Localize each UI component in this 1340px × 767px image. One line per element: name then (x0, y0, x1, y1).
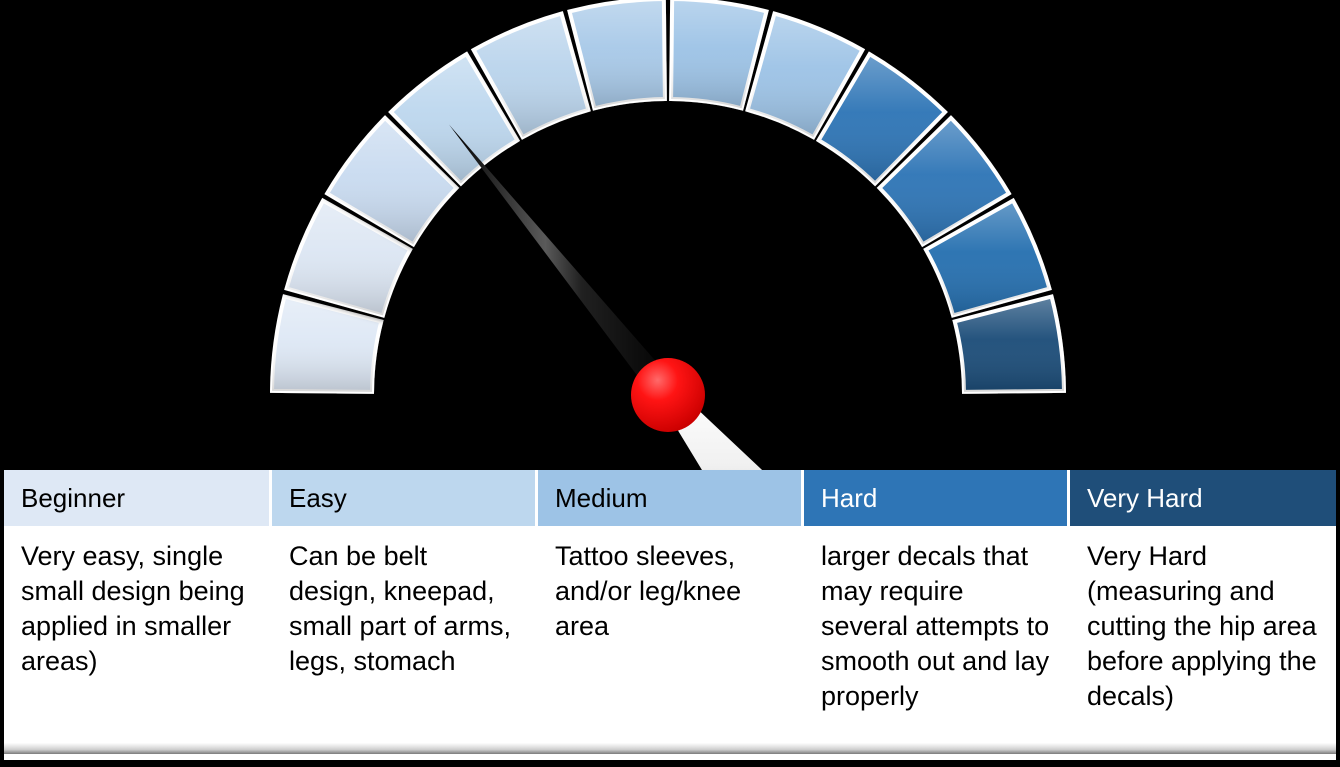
body-cell-hard: larger decals that may require several a… (804, 526, 1070, 732)
gauge-area (0, 0, 1340, 470)
body-cell-easy: Can be belt design, kneepad, small part … (272, 526, 538, 732)
difficulty-gauge (0, 0, 1340, 470)
header-cell-very-hard: Very Hard (1070, 470, 1336, 526)
body-cell-beginner: Very easy, single small design being app… (4, 526, 272, 732)
needle-pointer (449, 125, 678, 404)
table-header-row: Beginner Easy Medium Hard Very Hard (4, 470, 1336, 526)
difficulty-table-container: Beginner Easy Medium Hard Very Hard Very… (4, 470, 1336, 760)
table-bottom-shadow (4, 738, 1336, 754)
gauge-needle (449, 125, 762, 470)
needle-hub (631, 358, 705, 432)
header-cell-beginner: Beginner (4, 470, 272, 526)
body-cell-medium: Tattoo sleeves, and/or leg/knee area (538, 526, 804, 732)
slide-canvas: Beginner Easy Medium Hard Very Hard Very… (0, 0, 1340, 767)
body-cell-very-hard: Very Hard (measuring and cutting the hip… (1070, 526, 1336, 732)
difficulty-legend-table: Beginner Easy Medium Hard Very Hard Very… (4, 470, 1336, 732)
header-cell-hard: Hard (804, 470, 1070, 526)
table-body-row: Very easy, single small design being app… (4, 526, 1336, 732)
header-cell-easy: Easy (272, 470, 538, 526)
gauge-segments (272, 0, 1064, 392)
header-cell-medium: Medium (538, 470, 804, 526)
